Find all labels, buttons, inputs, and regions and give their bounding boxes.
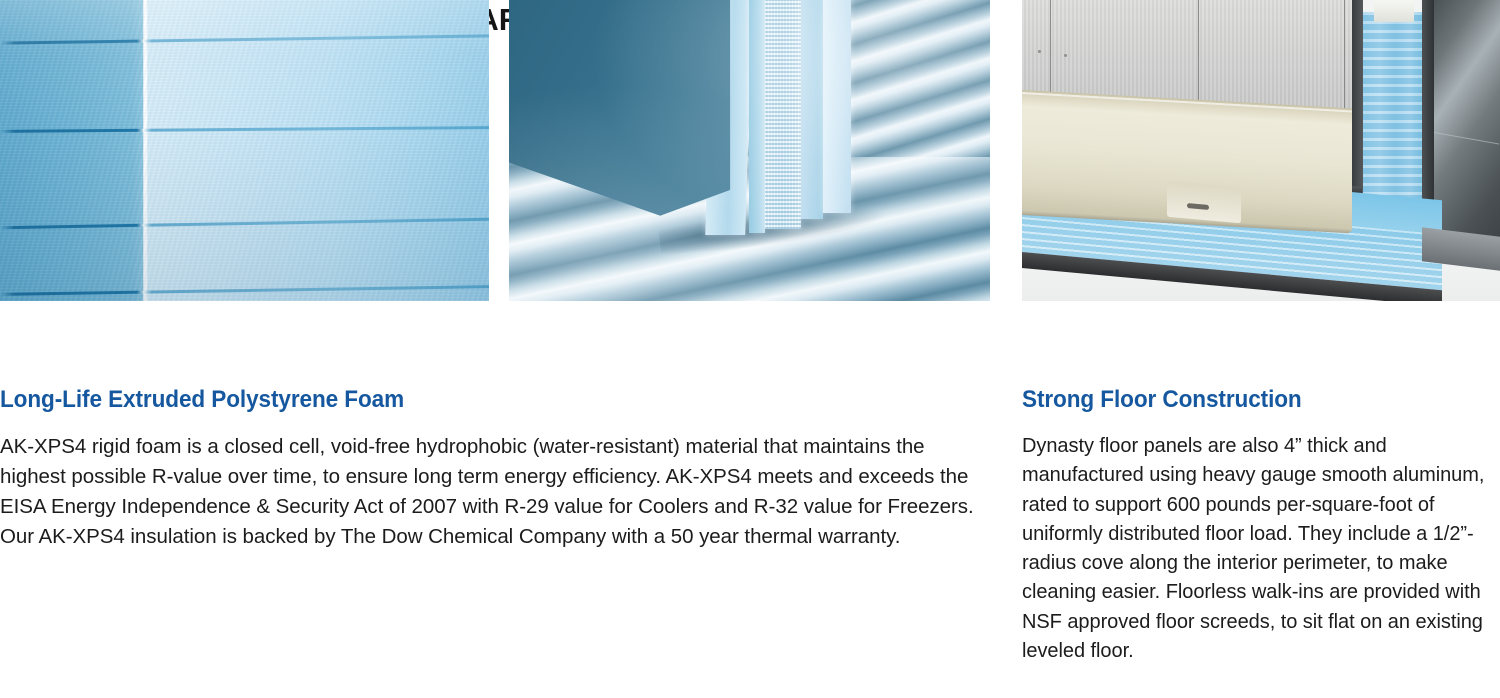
foam-vertical-shading (0, 0, 489, 301)
standard-floor-column: STANDARD FLOOR (1022, 0, 1500, 698)
foam-boards-on-corrugated-metal-photo (509, 0, 990, 301)
insulation-performance-column: INSULATION PERFORMANCE CHARACTERISTICS (0, 0, 990, 698)
insulation-body-copy: AK-XPS4 rigid foam is a closed cell, voi… (0, 432, 988, 552)
adjacent-dark-panel (1434, 0, 1500, 262)
insulation-paragraph: AK-XPS4 rigid foam is a closed cell, voi… (0, 432, 988, 552)
panel-rivet (1038, 50, 1041, 53)
subhead-strong-floor-construction: Strong Floor Construction (1022, 386, 1302, 414)
walk-in-cooler-floor-cross-section-photo (1022, 0, 1500, 301)
standard-floor-paragraph: Dynasty floor panels are also 4” thick a… (1022, 432, 1500, 666)
foam-stack-artwork (0, 0, 489, 301)
product-spec-page: INSULATION PERFORMANCE CHARACTERISTICS (0, 0, 1500, 698)
metal-glare-highlight (509, 0, 990, 301)
xps-foam-board-stack-photo (0, 0, 489, 301)
ceiling-light-reflection (1374, 0, 1414, 22)
foam-metal-artwork (509, 0, 990, 301)
floor-cross-section-artwork (1022, 0, 1500, 301)
standard-floor-body-copy: Dynasty floor panels are also 4” thick a… (1022, 432, 1500, 666)
panel-rivet (1064, 54, 1067, 57)
subhead-long-life-extruded-polystyrene-foam: Long-Life Extruded Polystyrene Foam (0, 386, 404, 414)
cove-end-cap (1167, 181, 1241, 223)
